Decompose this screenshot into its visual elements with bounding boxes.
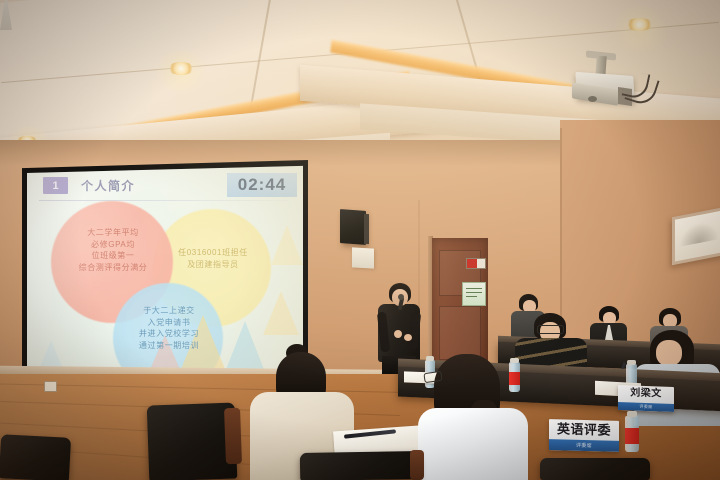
framed-artwork — [672, 207, 720, 265]
artwork-image — [679, 219, 719, 247]
wall-speaker — [340, 209, 366, 245]
door-notice — [462, 282, 486, 306]
microphone-head — [398, 294, 404, 300]
bottle-cap — [510, 358, 519, 363]
audience-shirt — [418, 408, 528, 480]
bottle-cap — [627, 411, 637, 417]
judge-face — [656, 340, 682, 366]
ceiling-downlight — [168, 62, 194, 75]
slide-decoration-triangle — [271, 225, 303, 265]
bubble-text-pink: 大二学年平均必修GPA均位班级第一综合测评得分满分 — [57, 227, 169, 273]
name-placard-english-judge: 英语评委 评委席 — [549, 419, 619, 452]
projector-lens — [588, 96, 597, 102]
presenter-shirt — [0, 0, 12, 30]
presenter-hand — [404, 334, 412, 341]
slide-title: 个人简介 — [81, 177, 135, 194]
bottle-cap — [426, 356, 434, 361]
presenter — [0, 0, 12, 30]
door-sign — [466, 258, 486, 269]
name-placard-judge: 刘梁文 评委席 — [618, 385, 674, 412]
judge-glasses — [537, 325, 564, 334]
placard-name: 英语评委 — [549, 420, 619, 440]
ceiling-downlight — [626, 18, 653, 31]
countdown-timer: 02:44 — [227, 173, 297, 197]
chair-armrest — [224, 408, 242, 465]
wall-notice-paper — [352, 247, 374, 268]
placard-name: 刘梁文 — [618, 386, 674, 402]
door-panel — [439, 306, 481, 360]
wall-outlet — [44, 381, 57, 392]
conference-room-photo: 1 个人简介 02:44 大二学年平均必修GPA均位班级第一综合测评得分满分 任… — [0, 0, 720, 480]
slide-decoration-triangle — [263, 291, 299, 335]
chair-armrest — [410, 450, 424, 480]
projection-screen: 1 个人简介 02:44 大二学年平均必修GPA均位班级第一综合测评得分满分 任… — [27, 165, 303, 386]
wall-speaker-side — [364, 214, 369, 244]
slide-number-badge: 1 — [43, 177, 68, 194]
bubble-text-blue: 于大二上递交入党申请书并进入党校学习通过第一期培训 — [115, 305, 223, 351]
bottle-cap — [627, 360, 636, 365]
bubble-text-yellow: 任0316001班担任及团建指导员 — [161, 247, 265, 270]
bottle-label — [509, 372, 520, 385]
slide-title-rule — [39, 200, 289, 201]
bottle-label — [625, 428, 639, 444]
conference-chair[interactable] — [300, 451, 420, 480]
conference-chair[interactable] — [540, 458, 650, 480]
presenter-hand — [394, 330, 402, 338]
placard-subtitle: 评委席 — [549, 440, 619, 452]
conference-chair[interactable] — [0, 434, 71, 480]
